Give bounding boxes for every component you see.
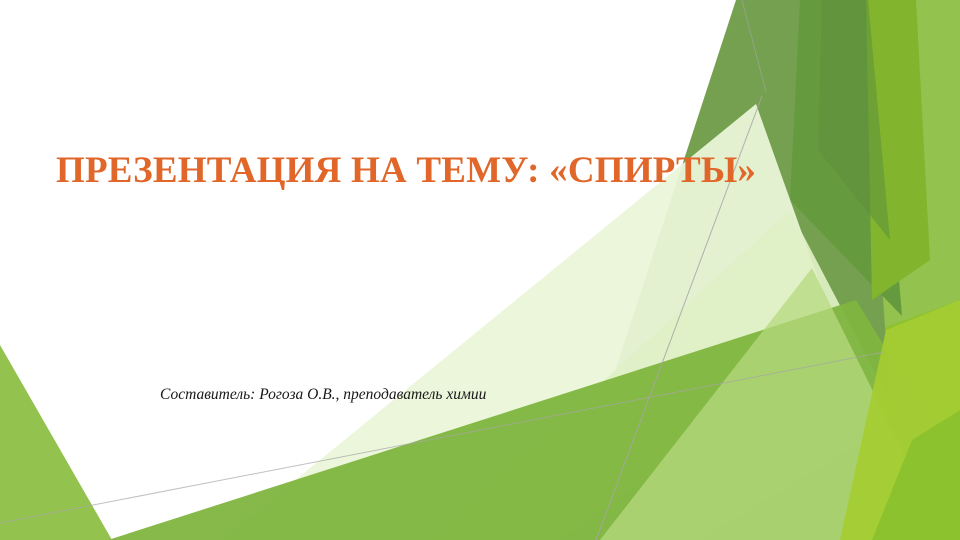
title-slide: ПРЕЗЕНТАЦИЯ НА ТЕМУ: «СПИРТЫ» Составител… xyxy=(0,0,960,540)
title-placeholder[interactable]: ПРЕЗЕНТАЦИЯ НА ТЕМУ: «СПИРТЫ» xyxy=(56,150,746,191)
subtitle-placeholder[interactable]: Составитель: Рогоза О.В., преподаватель … xyxy=(160,386,720,405)
slide-subtitle: Составитель: Рогоза О.В., преподаватель … xyxy=(160,386,720,405)
page-title: ПРЕЗЕНТАЦИЯ НА ТЕМУ: «СПИРТЫ» xyxy=(56,150,746,191)
slide-content: ПРЕЗЕНТАЦИЯ НА ТЕМУ: «СПИРТЫ» Составител… xyxy=(0,0,960,540)
